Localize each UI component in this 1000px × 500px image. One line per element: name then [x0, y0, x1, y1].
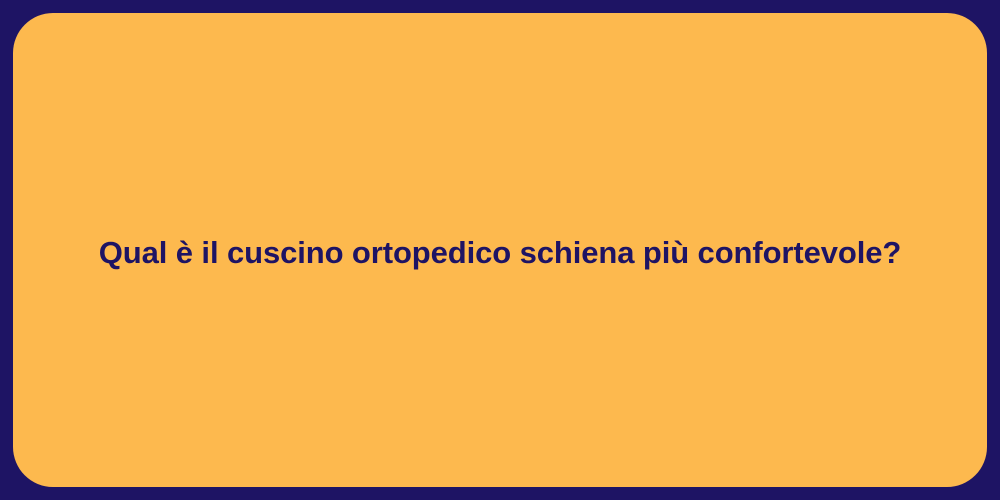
card-panel: Qual è il cuscino ortopedico schiena più…: [13, 13, 987, 487]
question-card: Qual è il cuscino ortopedico schiena più…: [0, 0, 1000, 500]
question-heading: Qual è il cuscino ortopedico schiena più…: [13, 231, 987, 275]
